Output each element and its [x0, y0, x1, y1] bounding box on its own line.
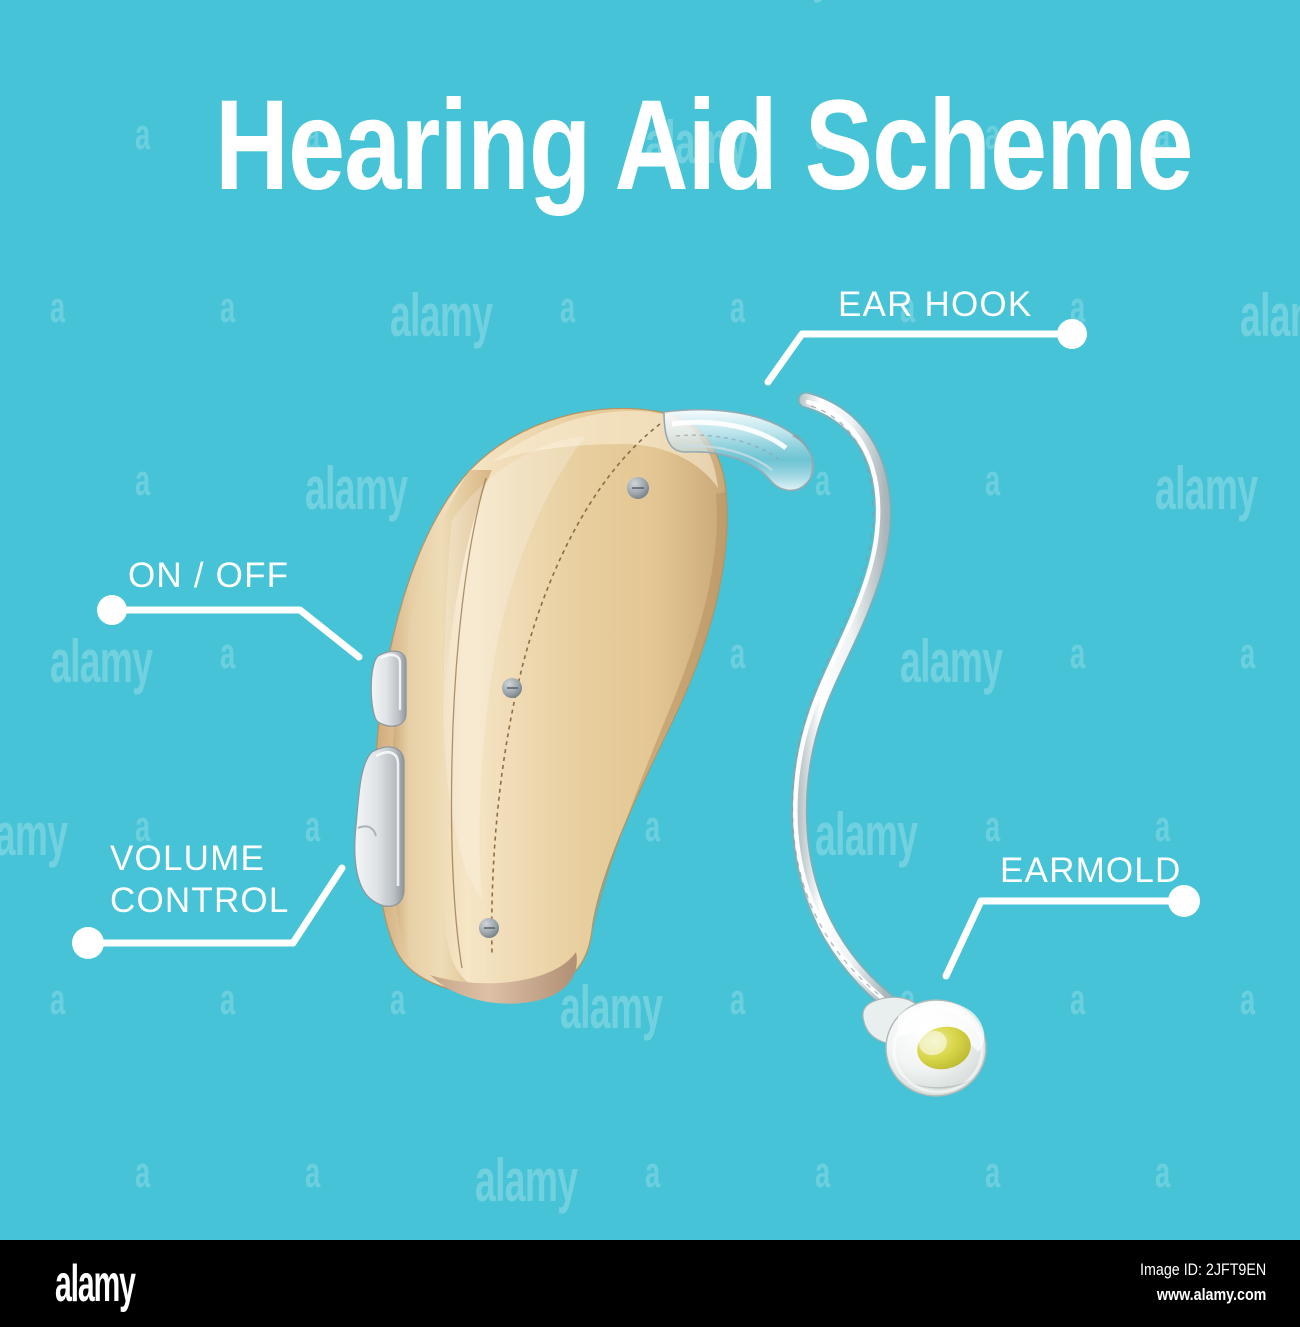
callout-label-volume-control: VOLUME CONTROL [110, 838, 290, 922]
leader-dot-volume-control [72, 927, 104, 959]
leader-dot-on-off [97, 595, 127, 625]
alamy-logo: alamy [55, 1258, 135, 1310]
alamy-footer-bar: alamy Image ID: 2JFT9EN www.alamy.com [0, 1240, 1300, 1327]
leader-earmold [946, 885, 1200, 976]
leader-dot-ear-hook [1057, 319, 1087, 349]
screenshot-root: alamyaaaaalamyaaaaaaaaalamyaaaaalamyaaaa… [0, 0, 1300, 1327]
callout-label-earmold: EARMOLD [1000, 850, 1182, 892]
callout-label-ear-hook: EAR HOOK [838, 284, 1032, 326]
leader-on-off [97, 595, 359, 657]
image-id-text: Image ID: 2JFT9EN [1140, 1260, 1266, 1280]
page-title: Hearing Aid Scheme [215, 85, 935, 207]
leader-ear-hook [768, 319, 1087, 382]
alamy-site-url: www.alamy.com [1156, 1285, 1266, 1305]
callout-label-on-off: ON / OFF [128, 555, 289, 597]
illustration-canvas: alamyaaaaalamyaaaaaaaaalamyaaaaalamyaaaa… [0, 0, 1300, 1240]
